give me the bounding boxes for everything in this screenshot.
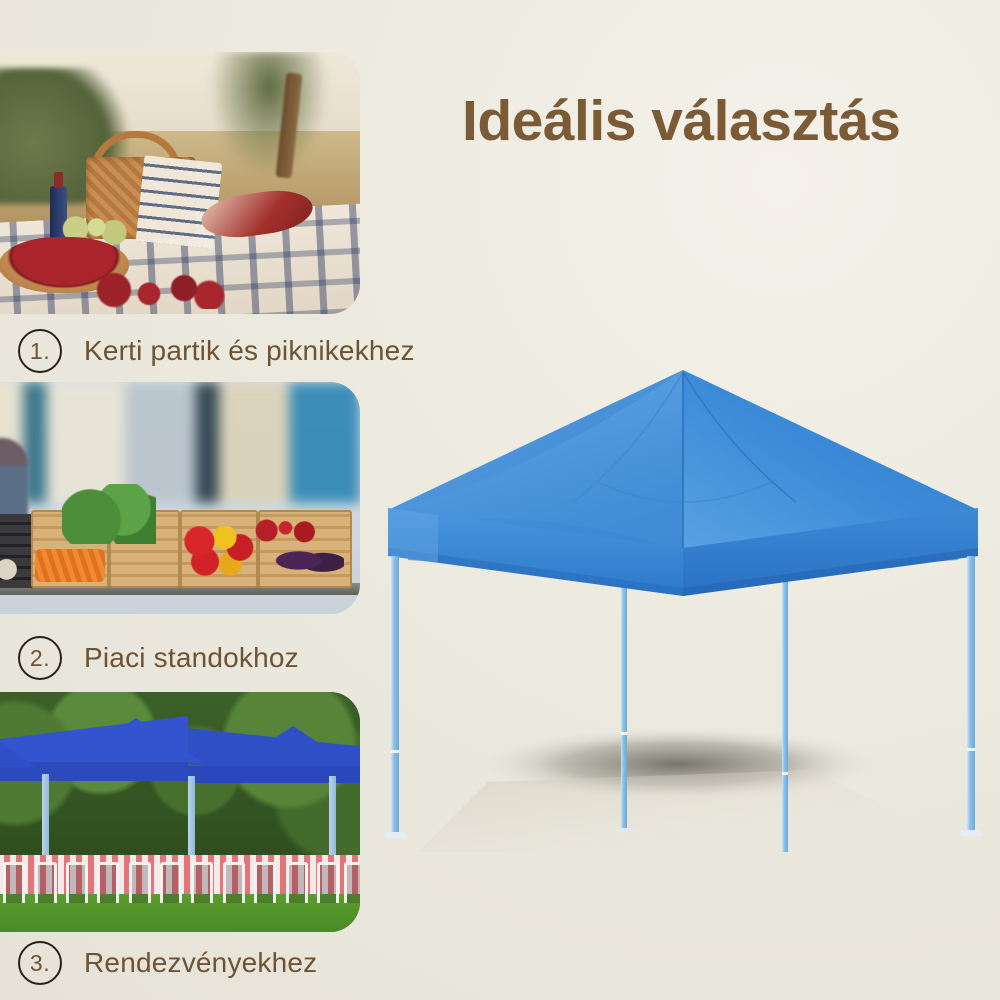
feature-image-3 [0, 692, 360, 932]
gazebo-leg-front-left [391, 556, 399, 836]
event-tents-scene [0, 692, 360, 932]
page-title: Ideális választás [462, 92, 982, 152]
feature-number-badge-2: 2. [18, 636, 62, 680]
poster-canvas: Ideális választás 1. Kerti p [0, 0, 1000, 1000]
feature-image-1 [0, 52, 360, 314]
feature-label-1: Kerti partik és piknikekhez [84, 335, 415, 367]
gazebo-leg-front-right [967, 556, 975, 834]
product-image-gazebo [378, 352, 988, 852]
feature-caption-3: 3. Rendezvényekhez [18, 940, 317, 986]
market-scene [0, 382, 360, 614]
feature-number-badge-1: 1. [18, 329, 62, 373]
feature-caption-2: 2. Piaci standokhoz [18, 635, 299, 681]
gazebo-leg-back-right [782, 548, 788, 852]
feature-label-2: Piaci standokhoz [84, 642, 299, 674]
feature-caption-1: 1. Kerti partik és piknikekhez [18, 328, 415, 374]
gazebo-leg-back-left [621, 548, 627, 832]
feature-label-3: Rendezvényekhez [84, 947, 317, 979]
feature-number-badge-3: 3. [18, 941, 62, 985]
feature-image-2 [0, 382, 360, 614]
picnic-scene [0, 52, 360, 314]
